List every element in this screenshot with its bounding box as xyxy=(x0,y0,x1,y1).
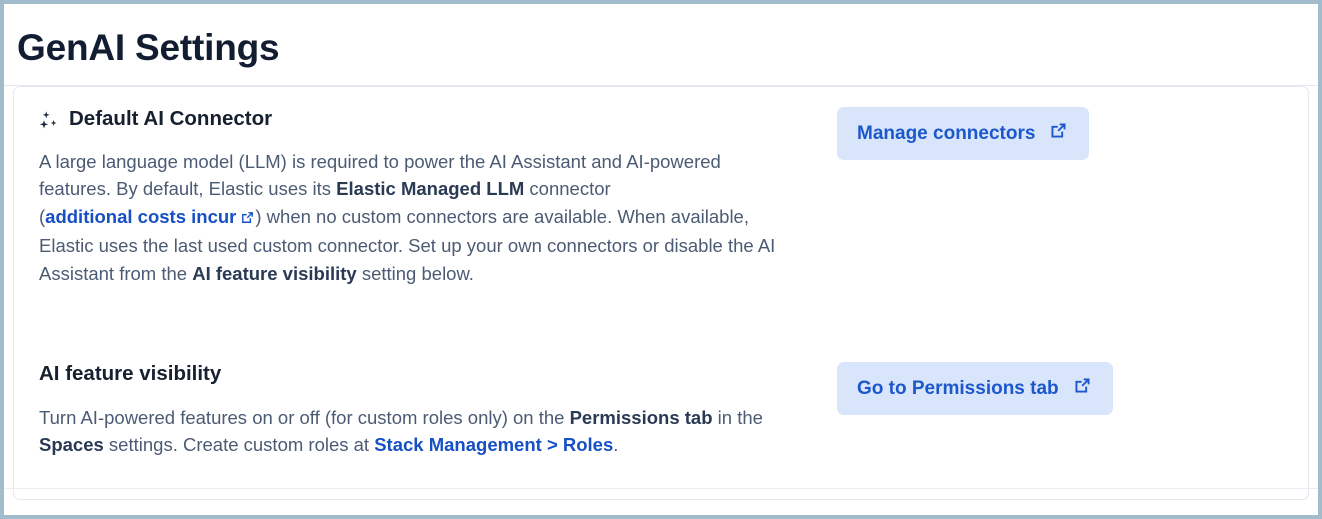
go-to-permissions-action: Go to Permissions tab xyxy=(780,362,1274,415)
section-ai-feature-visibility: AI feature visibility Turn AI-powered fe… xyxy=(39,362,1274,459)
manage-connectors-action: Manage connectors xyxy=(780,107,1274,160)
ai-feature-visibility-heading-label: AI feature visibility xyxy=(39,362,221,387)
genai-settings-window: GenAI Settings Default AI Conn xyxy=(0,0,1322,519)
manage-connectors-button[interactable]: Manage connectors xyxy=(837,107,1089,160)
external-link-icon xyxy=(1049,121,1068,146)
additional-costs-incur-link[interactable]: additional costs incur xyxy=(45,206,255,227)
section-spacer xyxy=(39,287,1274,362)
manage-connectors-button-label: Manage connectors xyxy=(857,123,1035,145)
desc-part-4: setting below. xyxy=(357,263,474,284)
ai-feature-visibility-heading: AI feature visibility xyxy=(39,362,780,387)
desc-bold-elastic-managed-llm: Elastic Managed LLM xyxy=(336,178,524,199)
section-default-ai-connector: Default AI Connector A large language mo… xyxy=(39,107,1274,287)
stack-management-roles-link[interactable]: Stack Management > Roles xyxy=(374,434,613,455)
section-text-block: Default AI Connector A large language mo… xyxy=(39,107,780,287)
ai-feature-visibility-description: Turn AI-powered features on or off (for … xyxy=(39,404,780,459)
visibility-bold-spaces: Spaces xyxy=(39,434,104,455)
page-title: GenAI Settings xyxy=(17,28,279,69)
additional-costs-incur-link-label: additional costs incur xyxy=(45,206,236,227)
settings-panel: Default AI Connector A large language mo… xyxy=(13,86,1309,500)
external-link-icon xyxy=(240,205,255,233)
section-text-block: AI feature visibility Turn AI-powered fe… xyxy=(39,362,780,459)
desc-bold-ai-feature-visibility: AI feature visibility xyxy=(192,263,357,284)
external-link-icon xyxy=(1073,376,1092,401)
default-ai-connector-description: A large language model (LLM) is required… xyxy=(39,148,780,288)
visibility-part-3: settings. Create custom roles at xyxy=(104,434,374,455)
default-ai-connector-heading: Default AI Connector xyxy=(39,107,780,132)
sparkles-icon xyxy=(39,110,60,131)
page-header: GenAI Settings xyxy=(4,4,1318,85)
visibility-part-2: in the xyxy=(713,407,763,428)
go-to-permissions-tab-button-label: Go to Permissions tab xyxy=(857,378,1059,400)
visibility-bold-permissions-tab: Permissions tab xyxy=(570,407,713,428)
visibility-part-1: Turn AI-powered features on or off (for … xyxy=(39,407,570,428)
default-ai-connector-heading-label: Default AI Connector xyxy=(69,107,272,132)
content-area: Default AI Connector A large language mo… xyxy=(4,86,1318,500)
go-to-permissions-tab-button[interactable]: Go to Permissions tab xyxy=(837,362,1113,415)
visibility-part-4: . xyxy=(613,434,618,455)
panel-bottom-divider xyxy=(4,488,1318,489)
